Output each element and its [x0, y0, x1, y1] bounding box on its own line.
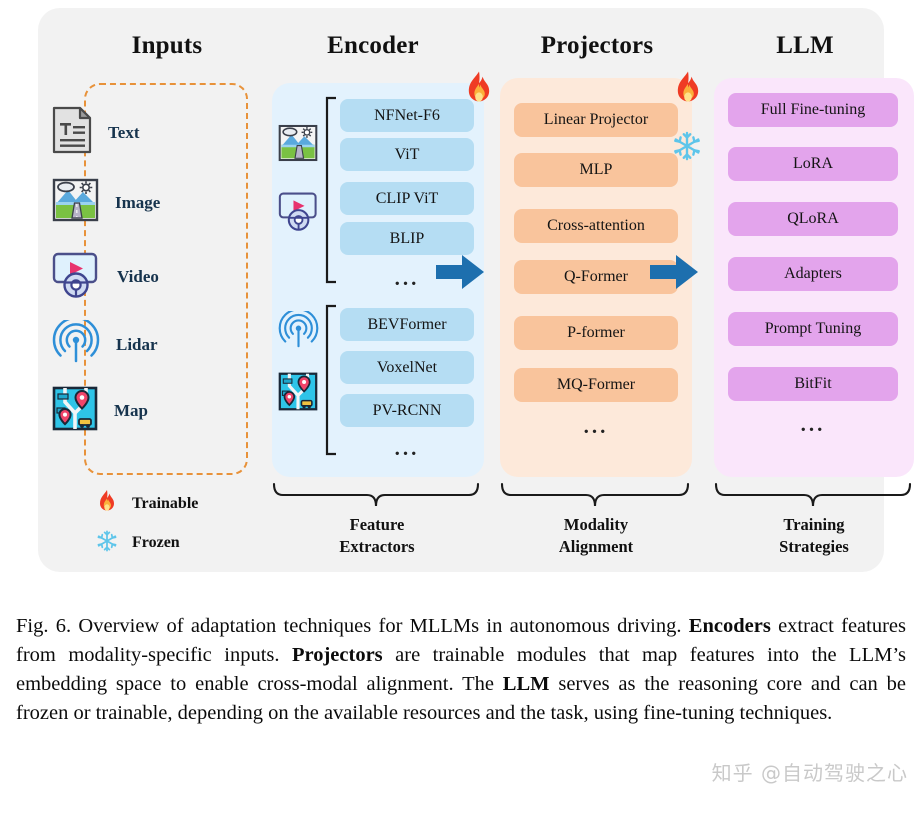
encoder-bracket-vision [324, 96, 338, 284]
brace-label-projectors-line1: Modality [498, 514, 694, 536]
brace-encoder [270, 482, 484, 516]
fire-icon [96, 489, 118, 519]
brace-label-encoder-line1: Feature [270, 514, 484, 536]
input-label-text: Text [108, 123, 140, 143]
encoder-icon-image [278, 124, 318, 167]
landscape-image-icon [52, 178, 99, 227]
projector-chip[interactable]: P-former [514, 316, 678, 350]
figure-card: Inputs Encoder Projectors LLM Text [38, 8, 884, 572]
projector-chip[interactable]: Linear Projector [514, 103, 678, 137]
brace-label-llm-line2: Strategies [712, 536, 916, 558]
input-label-map: Map [114, 401, 148, 421]
watermark: 知乎 @自动驾驶之心 [712, 757, 908, 786]
encoder-icon-lidar [278, 311, 319, 354]
input-row-map: Map [52, 386, 148, 436]
llm-chip[interactable]: LoRA [728, 147, 898, 181]
legend-label-frozen: Frozen [132, 534, 180, 552]
input-row-text: Text [52, 106, 140, 159]
input-label-lidar: Lidar [116, 335, 158, 355]
projector-chip[interactable]: Cross-attention [514, 209, 678, 243]
encoder-chip[interactable]: ViT [340, 138, 474, 171]
brace-label-llm: Training Strategies [712, 514, 916, 559]
encoder-chip[interactable]: CLIP ViT [340, 182, 474, 215]
llm-snowflake-icon [672, 130, 702, 167]
encoder-ellipsis-point: ... [340, 436, 474, 461]
arrow-encoder-to-projector [434, 253, 488, 293]
map-pins-icon [52, 386, 98, 436]
encoder-chip[interactable]: NFNet-F6 [340, 99, 474, 132]
encoder-chip[interactable]: VoxelNet [340, 351, 474, 384]
llm-chip[interactable]: QLoRA [728, 202, 898, 236]
input-row-image: Image [52, 178, 160, 227]
legend-frozen: Frozen [96, 529, 180, 557]
legend-label-trainable: Trainable [132, 495, 198, 513]
projectors-ellipsis: ... [514, 414, 678, 439]
brace-label-projectors-line2: Alignment [498, 536, 694, 558]
brace-llm [712, 482, 916, 516]
encoder-chip[interactable]: BLIP [340, 222, 474, 255]
projector-chip[interactable]: MQ-Former [514, 368, 678, 402]
llm-chip[interactable]: Adapters [728, 257, 898, 291]
encoder-chip[interactable]: BEVFormer [340, 308, 474, 341]
llm-fire-icon [672, 70, 704, 113]
llm-ellipsis: ... [728, 412, 898, 437]
lidar-radar-waves-icon [52, 320, 100, 369]
encoder-chip[interactable]: PV-RCNN [340, 394, 474, 427]
snowflake-icon [96, 529, 118, 557]
encoder-icon-video [278, 191, 320, 236]
encoder-icon-map [278, 372, 318, 416]
column-header-inputs: Inputs [72, 32, 262, 60]
brace-label-encoder: Feature Extractors [270, 514, 484, 559]
llm-chip[interactable]: BitFit [728, 367, 898, 401]
arrow-projector-to-llm [648, 253, 702, 293]
brace-projectors [498, 482, 694, 516]
projector-chip[interactable]: MLP [514, 153, 678, 187]
projectors-fire-icon [463, 70, 495, 113]
text-document-icon [52, 106, 92, 159]
column-header-llm: LLM [680, 32, 922, 60]
video-steering-wheel-icon [52, 251, 101, 303]
caption-text: Fig. 6. Overview of adaptation technique… [16, 615, 689, 637]
legend-trainable: Trainable [96, 489, 198, 519]
llm-chip[interactable]: Prompt Tuning [728, 312, 898, 346]
input-row-video: Video [52, 251, 159, 303]
caption-emphasis: Encoders [689, 615, 771, 637]
input-label-image: Image [115, 193, 160, 213]
caption-emphasis: Projectors [292, 644, 383, 666]
brace-label-projectors: Modality Alignment [498, 514, 694, 559]
encoder-bracket-point [324, 304, 338, 456]
llm-chip[interactable]: Full Fine-tuning [728, 93, 898, 127]
input-label-video: Video [117, 267, 159, 287]
caption-emphasis: LLM [503, 673, 550, 695]
brace-label-encoder-line2: Extractors [270, 536, 484, 558]
input-row-lidar: Lidar [52, 320, 158, 369]
brace-label-llm-line1: Training [712, 514, 916, 536]
figure-caption: Fig. 6. Overview of adaptation technique… [16, 612, 906, 728]
